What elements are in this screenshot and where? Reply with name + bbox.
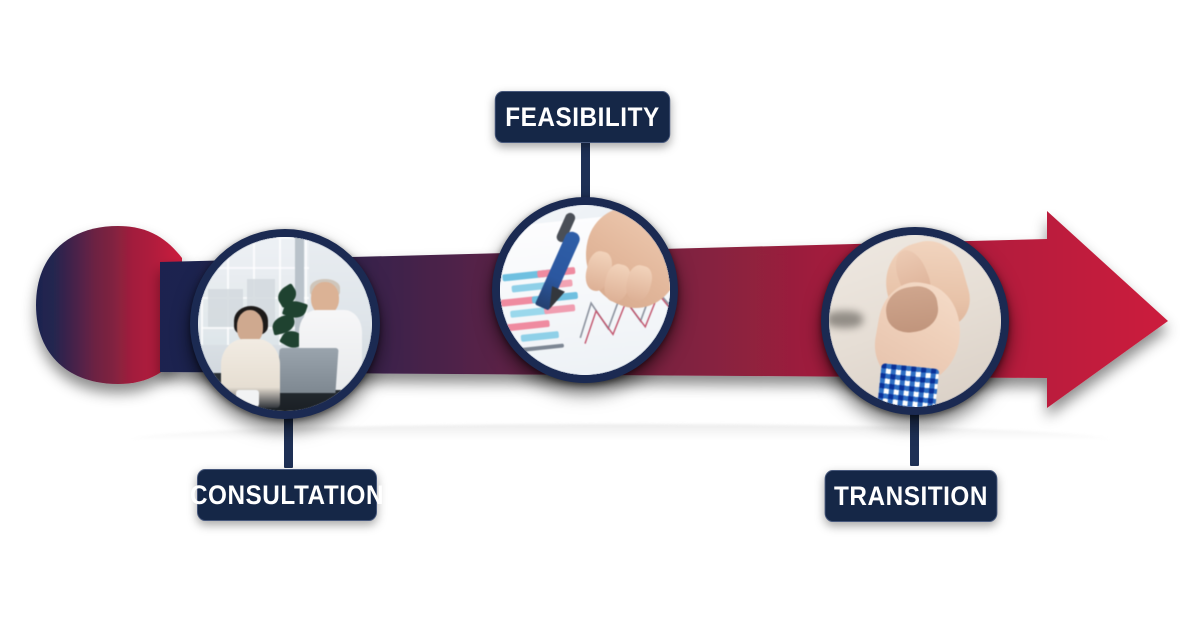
label-badge-transition[interactable]: TRANSITION — [825, 470, 998, 522]
stem-feasibility — [581, 134, 590, 202]
node-image-feasibility[interactable] — [492, 197, 678, 383]
infographic-canvas: CONSULTATION — [0, 0, 1200, 619]
node-image-consultation[interactable] — [190, 229, 380, 419]
photo-transition-handshake — [829, 235, 1001, 407]
label-badge-consultation[interactable]: CONSULTATION — [197, 469, 377, 521]
node-image-transition[interactable] — [821, 227, 1009, 415]
label-text-transition: TRANSITION — [834, 483, 988, 510]
label-text-consultation: CONSULTATION — [190, 482, 384, 509]
label-badge-feasibility[interactable]: FEASIBILITY — [495, 91, 671, 143]
photo-feasibility-analysis — [500, 205, 670, 375]
photo-consultation-meeting — [198, 237, 372, 411]
label-text-feasibility: FEASIBILITY — [505, 104, 659, 131]
